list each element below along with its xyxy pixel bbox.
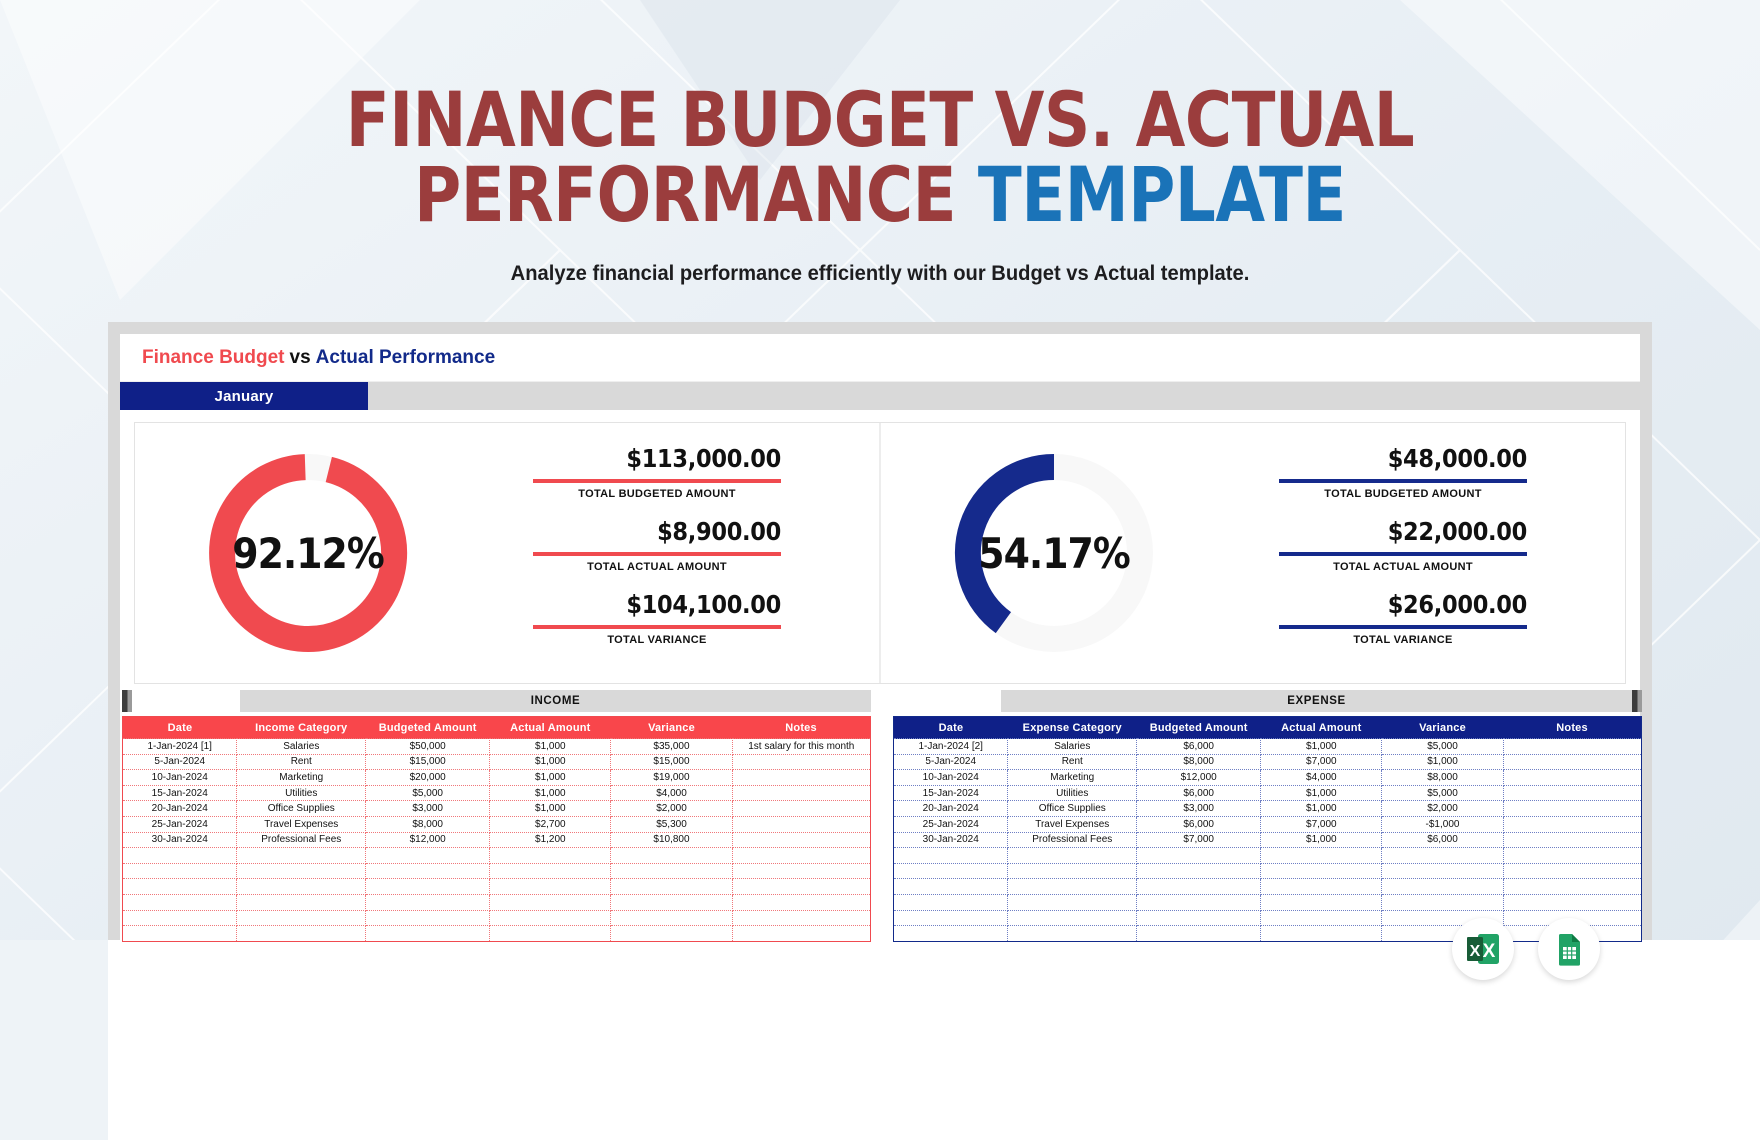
cell-category[interactable] xyxy=(1008,894,1137,910)
cell-budgeted[interactable]: $6,000 xyxy=(1137,739,1261,755)
cell-notes[interactable] xyxy=(732,879,870,895)
table-row[interactable]: 10-Jan-2024Marketing$20,000$1,000$19,000 xyxy=(123,770,871,786)
income-variance-rule xyxy=(533,625,781,629)
cell-actual[interactable]: $2,700 xyxy=(490,816,611,832)
cell-notes[interactable] xyxy=(732,801,870,817)
cell-category[interactable]: Rent xyxy=(1008,754,1137,770)
cell-notes[interactable] xyxy=(1503,863,1641,879)
income-actual-rule xyxy=(533,552,781,556)
income-actual-caption: TOTAL ACTUAL AMOUNT xyxy=(533,561,781,573)
cell-date[interactable]: 15-Jan-2024 xyxy=(894,785,1008,801)
cell-budgeted[interactable] xyxy=(1137,879,1261,895)
cell-budgeted[interactable] xyxy=(366,879,490,895)
income-table-block: INCOME DateIncome CategoryBudgeted Amoun… xyxy=(122,690,871,942)
cell-budgeted[interactable]: $3,000 xyxy=(1137,801,1261,817)
cell-date[interactable] xyxy=(894,910,1008,926)
sheet-title: Finance Budget vs Actual Performance xyxy=(120,334,1640,382)
cell-date[interactable] xyxy=(894,863,1008,879)
cell-variance[interactable]: -$1,000 xyxy=(1382,816,1503,832)
cell-actual[interactable] xyxy=(1261,894,1382,910)
expense-stat-variance: $26,000.00 TOTAL VARIANCE xyxy=(1179,590,1527,646)
cell-date[interactable] xyxy=(894,879,1008,895)
table-row[interactable]: 30-Jan-2024Professional Fees$12,000$1,20… xyxy=(123,832,871,848)
income-budgeted-value: $113,000.00 xyxy=(433,444,781,473)
cell-category[interactable] xyxy=(1008,848,1137,864)
column-header[interactable]: Budgeted Amount xyxy=(366,717,490,739)
cell-date[interactable]: 1-Jan-2024 [1] xyxy=(123,739,237,755)
cell-variance[interactable]: $6,000 xyxy=(1382,832,1503,848)
cell-actual[interactable]: $4,000 xyxy=(1261,770,1382,786)
income-variance-value: $104,100.00 xyxy=(433,590,781,619)
page-title-accent: TEMPLATE xyxy=(978,150,1346,239)
cell-actual[interactable] xyxy=(1261,910,1382,926)
table-row[interactable] xyxy=(123,848,871,864)
cell-actual[interactable]: $1,000 xyxy=(1261,801,1382,817)
expense-donut-chart: 54.17% xyxy=(929,438,1179,668)
cell-notes[interactable] xyxy=(1503,894,1641,910)
cell-date[interactable]: 30-Jan-2024 xyxy=(123,832,237,848)
cell-actual[interactable]: $1,000 xyxy=(1261,739,1382,755)
cell-notes[interactable] xyxy=(1503,770,1641,786)
cell-variance[interactable]: $5,000 xyxy=(1382,785,1503,801)
expense-stat-actual: $22,000.00 TOTAL ACTUAL AMOUNT xyxy=(1179,517,1527,573)
column-header[interactable]: Notes xyxy=(732,717,870,739)
cell-category[interactable] xyxy=(237,879,366,895)
income-donut-percent: 92.12% xyxy=(232,529,383,578)
cell-budgeted[interactable] xyxy=(1137,910,1261,926)
table-row[interactable]: 5-Jan-2024Rent$8,000$7,000$1,000 xyxy=(894,754,1642,770)
income-budgeted-rule xyxy=(533,479,781,483)
cell-date[interactable]: 10-Jan-2024 xyxy=(894,770,1008,786)
cell-actual[interactable]: $1,000 xyxy=(1261,832,1382,848)
cell-actual[interactable] xyxy=(1261,848,1382,864)
expense-table[interactable]: DateExpense CategoryBudgeted AmountActua… xyxy=(893,716,1642,942)
cell-budgeted[interactable] xyxy=(1137,863,1261,879)
cell-actual[interactable]: $1,200 xyxy=(490,832,611,848)
table-row[interactable] xyxy=(123,910,871,926)
cell-budgeted[interactable]: $15,000 xyxy=(366,754,490,770)
cell-date[interactable] xyxy=(894,894,1008,910)
expense-variance-caption: TOTAL VARIANCE xyxy=(1279,634,1527,646)
cell-budgeted[interactable]: $12,000 xyxy=(366,832,490,848)
svg-text:X: X xyxy=(1470,943,1481,960)
cell-category[interactable] xyxy=(237,926,366,942)
cell-actual[interactable]: $1,000 xyxy=(490,785,611,801)
month-tab-january[interactable]: January xyxy=(120,382,368,410)
cell-variance[interactable]: $5,000 xyxy=(1382,739,1503,755)
table-row[interactable]: 1-Jan-2024 [1]Salaries$50,000$1,000$35,0… xyxy=(123,739,871,755)
cell-date[interactable]: 25-Jan-2024 xyxy=(123,816,237,832)
cell-variance[interactable]: $10,800 xyxy=(611,832,732,848)
section-spacer xyxy=(893,690,1001,712)
cell-actual[interactable] xyxy=(1261,926,1382,942)
cell-budgeted[interactable]: $20,000 xyxy=(366,770,490,786)
cell-category[interactable] xyxy=(1008,879,1137,895)
income-section-label: INCOME xyxy=(240,690,871,712)
cell-category[interactable] xyxy=(1008,910,1137,926)
page-title-line-2: PERFORMANCE TEMPLATE xyxy=(53,157,1707,232)
expense-donut-percent: 54.17% xyxy=(978,529,1129,578)
section-spacer xyxy=(132,690,240,712)
expense-stats: $48,000.00 TOTAL BUDGETED AMOUNT $22,000… xyxy=(1179,444,1625,663)
cell-actual[interactable] xyxy=(490,894,611,910)
cell-budgeted[interactable]: $8,000 xyxy=(1137,754,1261,770)
cell-category[interactable]: Marketing xyxy=(1008,770,1137,786)
table-row[interactable] xyxy=(894,894,1642,910)
cell-variance[interactable]: $5,300 xyxy=(611,816,732,832)
cell-variance[interactable]: $1,000 xyxy=(1382,754,1503,770)
income-variance-caption: TOTAL VARIANCE xyxy=(533,634,781,646)
table-row[interactable]: 15-Jan-2024Utilities$5,000$1,000$4,000 xyxy=(123,785,871,801)
excel-badge[interactable]: X X xyxy=(1452,918,1514,980)
expense-table-block: EXPENSE DateExpense CategoryBudgeted Amo… xyxy=(893,690,1642,942)
cell-category[interactable]: Utilities xyxy=(1008,785,1137,801)
cell-budgeted[interactable]: $6,000 xyxy=(1137,785,1261,801)
cell-category[interactable] xyxy=(237,863,366,879)
table-row[interactable] xyxy=(123,879,871,895)
income-donut-chart: 92.12% xyxy=(183,438,433,668)
kpi-band: 92.12% $113,000.00 TOTAL BUDGETED AMOUNT… xyxy=(134,422,1626,684)
cell-notes[interactable] xyxy=(1503,785,1641,801)
column-header[interactable]: Notes xyxy=(1503,717,1641,739)
cell-notes[interactable] xyxy=(732,754,870,770)
column-header[interactable]: Actual Amount xyxy=(490,717,611,739)
cell-notes[interactable] xyxy=(732,910,870,926)
page-subtitle: Analyze financial performance efficientl… xyxy=(35,262,1725,286)
cell-variance[interactable]: $15,000 xyxy=(611,754,732,770)
cell-budgeted[interactable] xyxy=(1137,926,1261,942)
column-header[interactable]: Variance xyxy=(611,717,732,739)
expense-budgeted-caption: TOTAL BUDGETED AMOUNT xyxy=(1279,488,1527,500)
hero-header: FINANCE BUDGET VS. ACTUAL PERFORMANCE TE… xyxy=(0,0,1760,286)
table-row[interactable] xyxy=(123,863,871,879)
cell-notes[interactable] xyxy=(1503,801,1641,817)
cell-budgeted[interactable] xyxy=(366,894,490,910)
table-row[interactable] xyxy=(894,848,1642,864)
column-header[interactable]: Income Category xyxy=(237,717,366,739)
table-row[interactable]: 15-Jan-2024Utilities$6,000$1,000$5,000 xyxy=(894,785,1642,801)
income-table[interactable]: DateIncome CategoryBudgeted AmountActual… xyxy=(122,716,871,942)
cell-actual[interactable]: $1,000 xyxy=(490,801,611,817)
expense-table-header-row: DateExpense CategoryBudgeted AmountActua… xyxy=(894,717,1642,739)
income-table-body: 1-Jan-2024 [1]Salaries$50,000$1,000$35,0… xyxy=(123,739,871,942)
cell-variance[interactable]: $4,000 xyxy=(611,785,732,801)
cell-actual[interactable]: $1,000 xyxy=(490,754,611,770)
cell-notes[interactable] xyxy=(732,894,870,910)
cell-budgeted[interactable] xyxy=(1137,894,1261,910)
expense-table-body: 1-Jan-2024 [2]Salaries$6,000$1,000$5,000… xyxy=(894,739,1642,942)
sheet-title-vs: vs xyxy=(290,347,311,369)
income-actual-value: $8,900.00 xyxy=(433,517,781,546)
cell-category[interactable]: Utilities xyxy=(237,785,366,801)
google-sheets-icon xyxy=(1552,932,1586,966)
cell-date[interactable]: 1-Jan-2024 [2] xyxy=(894,739,1008,755)
expense-variance-rule xyxy=(1279,625,1527,629)
cell-notes[interactable] xyxy=(732,770,870,786)
cell-category[interactable]: Travel Expenses xyxy=(237,816,366,832)
cell-category[interactable]: Rent xyxy=(237,754,366,770)
table-row[interactable] xyxy=(894,879,1642,895)
cell-notes[interactable] xyxy=(732,832,870,848)
cell-notes[interactable] xyxy=(732,863,870,879)
cell-category[interactable]: Travel Expenses xyxy=(1008,816,1137,832)
cell-actual[interactable] xyxy=(490,848,611,864)
income-section-row: INCOME xyxy=(122,690,871,712)
tables-area: INCOME DateIncome CategoryBudgeted Amoun… xyxy=(122,690,1642,942)
cell-actual[interactable]: $7,000 xyxy=(1261,754,1382,770)
table-row[interactable]: 1-Jan-2024 [2]Salaries$6,000$1,000$5,000 xyxy=(894,739,1642,755)
excel-icon: X X xyxy=(1465,931,1501,967)
expense-actual-value: $22,000.00 xyxy=(1179,517,1527,546)
cell-budgeted[interactable]: $3,000 xyxy=(366,801,490,817)
table-row[interactable]: 5-Jan-2024Rent$15,000$1,000$15,000 xyxy=(123,754,871,770)
cell-date[interactable] xyxy=(123,848,237,864)
cell-notes[interactable] xyxy=(732,816,870,832)
expense-budgeted-value: $48,000.00 xyxy=(1179,444,1527,473)
column-header[interactable]: Actual Amount xyxy=(1261,717,1382,739)
table-row[interactable]: 20-Jan-2024Office Supplies$3,000$1,000$2… xyxy=(894,801,1642,817)
cell-variance[interactable] xyxy=(1382,894,1503,910)
cell-notes[interactable] xyxy=(732,926,870,942)
expense-stat-budgeted: $48,000.00 TOTAL BUDGETED AMOUNT xyxy=(1179,444,1527,500)
expense-section-row: EXPENSE xyxy=(893,690,1642,712)
cell-budgeted[interactable] xyxy=(366,863,490,879)
table-row[interactable]: 30-Jan-2024Professional Fees$7,000$1,000… xyxy=(894,832,1642,848)
cell-budgeted[interactable]: $5,000 xyxy=(366,785,490,801)
row-grip-handle[interactable] xyxy=(122,690,132,712)
cell-variance[interactable] xyxy=(611,910,732,926)
cell-date[interactable] xyxy=(123,894,237,910)
table-row[interactable] xyxy=(123,926,871,942)
cell-date[interactable]: 25-Jan-2024 xyxy=(894,816,1008,832)
bottom-left-gap xyxy=(0,940,108,1140)
cell-budgeted[interactable]: $12,000 xyxy=(1137,770,1261,786)
cell-category[interactable] xyxy=(1008,863,1137,879)
month-tab-bar: January xyxy=(120,382,1640,410)
page-title-line-1: FINANCE BUDGET VS. ACTUAL xyxy=(53,82,1707,157)
cell-actual[interactable] xyxy=(490,926,611,942)
cell-actual[interactable] xyxy=(1261,879,1382,895)
cell-date[interactable]: 10-Jan-2024 xyxy=(123,770,237,786)
cell-notes[interactable] xyxy=(732,848,870,864)
column-header[interactable]: Expense Category xyxy=(1008,717,1137,739)
expense-section-label: EXPENSE xyxy=(1001,690,1632,712)
cell-actual[interactable]: $1,000 xyxy=(490,770,611,786)
income-stat-variance: $104,100.00 TOTAL VARIANCE xyxy=(433,590,781,646)
cell-date[interactable]: 30-Jan-2024 xyxy=(894,832,1008,848)
cell-variance[interactable] xyxy=(611,926,732,942)
expense-variance-value: $26,000.00 xyxy=(1179,590,1527,619)
cell-variance[interactable] xyxy=(1382,879,1503,895)
table-row[interactable] xyxy=(894,863,1642,879)
page-title: FINANCE BUDGET VS. ACTUAL PERFORMANCE TE… xyxy=(53,82,1707,232)
row-grip-handle[interactable] xyxy=(1632,690,1642,712)
cell-date[interactable]: 5-Jan-2024 xyxy=(894,754,1008,770)
cell-category[interactable] xyxy=(237,848,366,864)
cell-date[interactable] xyxy=(894,848,1008,864)
cell-date[interactable] xyxy=(894,926,1008,942)
column-header[interactable]: Budgeted Amount xyxy=(1137,717,1261,739)
table-row[interactable]: 25-Jan-2024Travel Expenses$8,000$2,700$5… xyxy=(123,816,871,832)
cell-variance[interactable]: $2,000 xyxy=(611,801,732,817)
cell-actual[interactable]: $1,000 xyxy=(1261,785,1382,801)
table-row[interactable]: 10-Jan-2024Marketing$12,000$4,000$8,000 xyxy=(894,770,1642,786)
cell-budgeted[interactable] xyxy=(1137,848,1261,864)
cell-budgeted[interactable]: $8,000 xyxy=(366,816,490,832)
income-stats: $113,000.00 TOTAL BUDGETED AMOUNT $8,900… xyxy=(433,444,879,663)
expense-actual-rule xyxy=(1279,552,1527,556)
svg-text:X: X xyxy=(1483,941,1496,962)
cell-category[interactable]: Office Supplies xyxy=(237,801,366,817)
cell-budgeted[interactable] xyxy=(366,926,490,942)
cell-variance[interactable]: $19,000 xyxy=(611,770,732,786)
cell-budgeted[interactable] xyxy=(366,910,490,926)
cell-budgeted[interactable]: $7,000 xyxy=(1137,832,1261,848)
cell-date[interactable]: 5-Jan-2024 xyxy=(123,754,237,770)
cell-notes[interactable] xyxy=(1503,832,1641,848)
cell-category[interactable] xyxy=(237,894,366,910)
cell-notes[interactable] xyxy=(1503,754,1641,770)
cell-variance[interactable] xyxy=(611,879,732,895)
cell-variance[interactable] xyxy=(611,863,732,879)
cell-budgeted[interactable]: $50,000 xyxy=(366,739,490,755)
table-row[interactable]: 20-Jan-2024Office Supplies$3,000$1,000$2… xyxy=(123,801,871,817)
cell-variance[interactable]: $35,000 xyxy=(611,739,732,755)
cell-category[interactable]: Professional Fees xyxy=(1008,832,1137,848)
cell-variance[interactable]: $8,000 xyxy=(1382,770,1503,786)
cell-date[interactable]: 15-Jan-2024 xyxy=(123,785,237,801)
income-stat-actual: $8,900.00 TOTAL ACTUAL AMOUNT xyxy=(433,517,781,573)
cell-notes[interactable] xyxy=(732,785,870,801)
cell-actual[interactable]: $7,000 xyxy=(1261,816,1382,832)
cell-notes[interactable] xyxy=(1503,848,1641,864)
cell-category[interactable] xyxy=(237,910,366,926)
cell-notes[interactable]: 1st salary for this month xyxy=(732,739,870,755)
cell-variance[interactable]: $2,000 xyxy=(1382,801,1503,817)
column-header[interactable]: Date xyxy=(123,717,237,739)
cell-date[interactable]: 20-Jan-2024 xyxy=(123,801,237,817)
cell-category[interactable]: Salaries xyxy=(1008,739,1137,755)
expense-actual-caption: TOTAL ACTUAL AMOUNT xyxy=(1279,561,1527,573)
cell-variance[interactable] xyxy=(611,848,732,864)
kpi-income-panel: 92.12% $113,000.00 TOTAL BUDGETED AMOUNT… xyxy=(135,423,879,683)
column-header[interactable]: Date xyxy=(894,717,1008,739)
sheet-title-budget: Finance Budget xyxy=(142,347,285,369)
cell-category[interactable]: Salaries xyxy=(237,739,366,755)
cell-variance[interactable] xyxy=(1382,863,1503,879)
cell-date[interactable] xyxy=(123,863,237,879)
column-header[interactable]: Variance xyxy=(1382,717,1503,739)
cell-notes[interactable] xyxy=(1503,879,1641,895)
cell-actual[interactable] xyxy=(490,910,611,926)
cell-category[interactable] xyxy=(1008,926,1137,942)
table-row[interactable] xyxy=(123,894,871,910)
cell-category[interactable]: Marketing xyxy=(237,770,366,786)
cell-date[interactable]: 20-Jan-2024 xyxy=(894,801,1008,817)
google-sheets-badge[interactable] xyxy=(1538,918,1600,980)
cell-date[interactable] xyxy=(123,879,237,895)
cell-variance[interactable] xyxy=(611,894,732,910)
income-budgeted-caption: TOTAL BUDGETED AMOUNT xyxy=(533,488,781,500)
cell-actual[interactable] xyxy=(490,879,611,895)
cell-category[interactable]: Professional Fees xyxy=(237,832,366,848)
cell-actual[interactable] xyxy=(490,863,611,879)
cell-category[interactable]: Office Supplies xyxy=(1008,801,1137,817)
sheet-title-actual: Actual Performance xyxy=(316,347,496,369)
cell-notes[interactable] xyxy=(1503,739,1641,755)
cell-actual[interactable] xyxy=(1261,863,1382,879)
cell-budgeted[interactable]: $6,000 xyxy=(1137,816,1261,832)
cell-actual[interactable]: $1,000 xyxy=(490,739,611,755)
expense-budgeted-rule xyxy=(1279,479,1527,483)
cell-date[interactable] xyxy=(123,910,237,926)
table-row[interactable]: 25-Jan-2024Travel Expenses$6,000$7,000-$… xyxy=(894,816,1642,832)
cell-date[interactable] xyxy=(123,926,237,942)
income-stat-budgeted: $113,000.00 TOTAL BUDGETED AMOUNT xyxy=(433,444,781,500)
file-format-badges: X X xyxy=(1452,918,1600,980)
cell-variance[interactable] xyxy=(1382,848,1503,864)
income-table-header-row: DateIncome CategoryBudgeted AmountActual… xyxy=(123,717,871,739)
kpi-expense-panel: 54.17% $48,000.00 TOTAL BUDGETED AMOUNT … xyxy=(879,423,1625,683)
page-title-main: PERFORMANCE xyxy=(414,150,978,239)
cell-notes[interactable] xyxy=(1503,816,1641,832)
cell-budgeted[interactable] xyxy=(366,848,490,864)
